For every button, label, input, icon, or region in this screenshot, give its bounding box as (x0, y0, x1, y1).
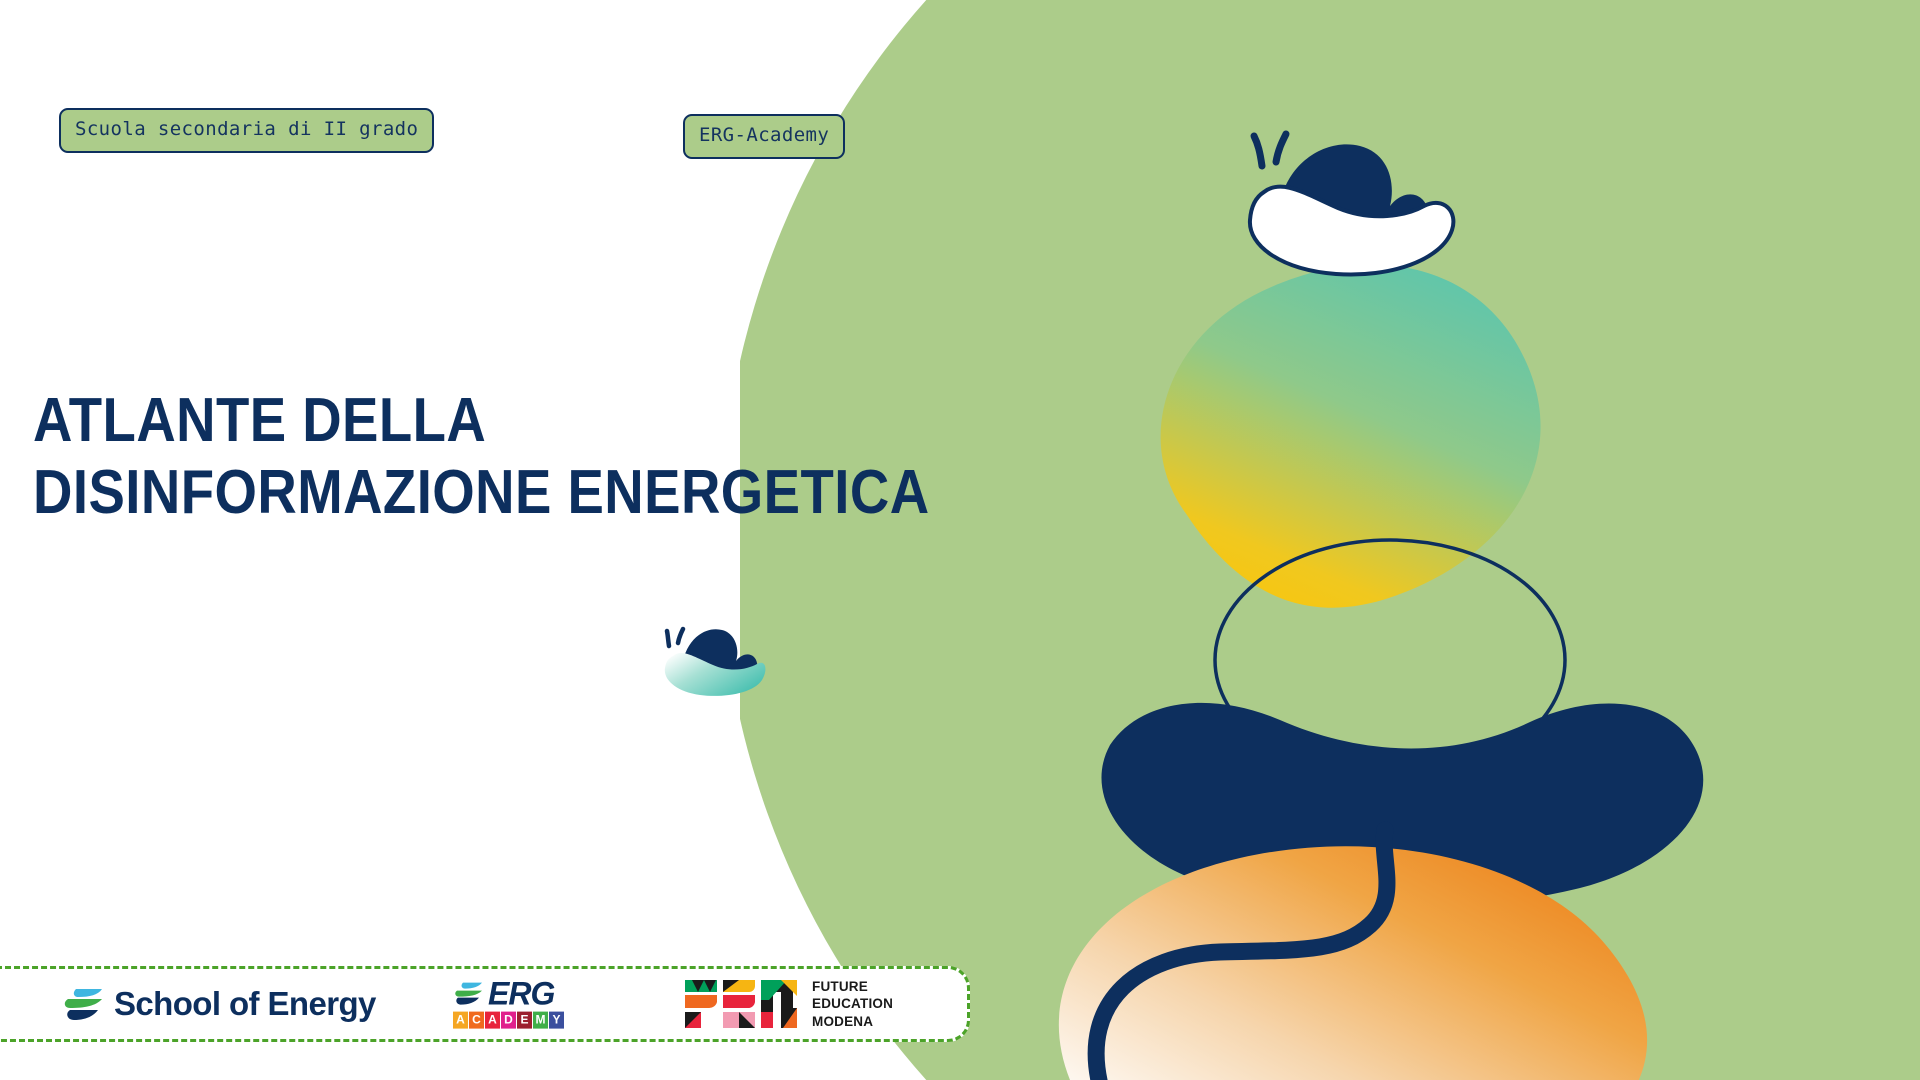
logo-erg-academy: ERG ACADEMY (453, 980, 565, 1029)
school-of-energy-wordmark: School of Energy (114, 985, 376, 1023)
erg-brand-text: ERG (488, 980, 554, 1009)
academy-letter-tile-2: A (485, 1011, 500, 1028)
footer-logo-strip: School of Energy ERG ACADEMY (0, 966, 970, 1042)
academy-letter-tile-6: Y (549, 1011, 564, 1028)
decorative-artwork (740, 0, 1920, 1080)
slide-canvas: Scuola secondaria di II grado ERG-Academ… (0, 0, 1920, 1080)
erg-academy-letter-tiles: ACADEMY (453, 1011, 565, 1028)
academy-letter-tile-3: D (501, 1011, 516, 1028)
academy-letter-tile-0: A (453, 1011, 468, 1028)
fem-line-1: FUTURE (812, 978, 893, 995)
academy-letter-tile-5: M (533, 1011, 548, 1028)
fem-line-2: EDUCATION (812, 995, 893, 1012)
fem-letters-icon (683, 978, 803, 1030)
swoosh-icon (62, 985, 104, 1023)
swoosh-icon (453, 981, 483, 1007)
butterfly-teal-icon (650, 618, 768, 698)
fem-line-3: MODENA (812, 1013, 893, 1030)
logo-fem: FUTURE EDUCATION MODENA (683, 978, 893, 1030)
page-title-line-1: ATLANTE DELLA (33, 385, 869, 457)
logo-school-of-energy: School of Energy (62, 985, 376, 1023)
fem-wordmark: FUTURE EDUCATION MODENA (812, 978, 893, 1030)
tag-program[interactable]: ERG-Academy (683, 114, 845, 159)
tag-school-level[interactable]: Scuola secondaria di II grado (59, 108, 434, 153)
orange-blob-shape (1059, 846, 1647, 1080)
gradient-blob-shape (1121, 218, 1584, 652)
academy-letter-tile-1: C (469, 1011, 484, 1028)
erg-brand-row: ERG (453, 980, 554, 1009)
academy-letter-tile-4: E (517, 1011, 532, 1028)
s-curve-line (1096, 830, 1387, 1080)
navy-bean-shape (1101, 703, 1703, 908)
page-title-line-2: DISINFORMAZIONE ENERGETICA (33, 457, 869, 529)
tag-row: Scuola secondaria di II grado ERG-Academ… (0, 108, 1920, 156)
green-circle-shape (740, 0, 1920, 1080)
ellipse-outline-shape (1215, 540, 1565, 780)
page-title: ATLANTE DELLA DISINFORMAZIONE ENERGETICA (33, 385, 983, 529)
